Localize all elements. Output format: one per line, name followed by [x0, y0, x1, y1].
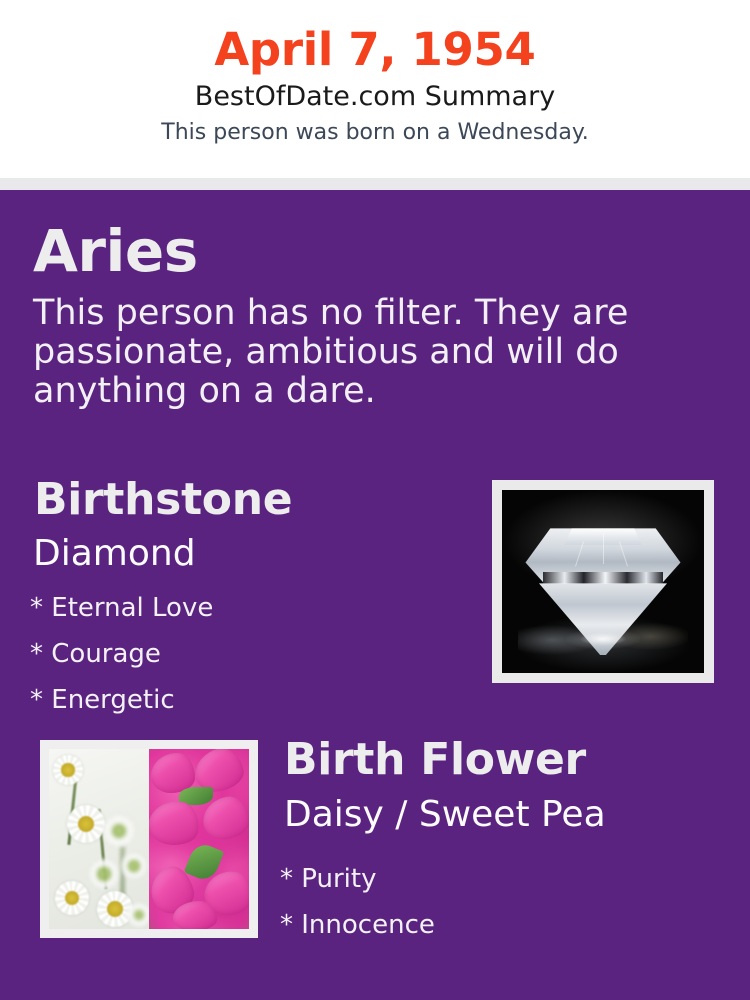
list-item: * Courage — [30, 632, 213, 678]
birth-flower-trait-list: * Purity * Innocence — [280, 857, 435, 949]
birth-flower-name: Daisy / Sweet Pea — [284, 797, 606, 833]
zodiac-description: This person has no filter. They are pass… — [33, 294, 653, 412]
daisy-flower-icon — [53, 755, 83, 785]
sweet-pea-photo-half — [149, 749, 249, 929]
diamond-facet-icon — [603, 534, 604, 564]
birth-flower-image-frame — [40, 740, 258, 938]
birthday-summary-card: April 7, 1954 BestOfDate.com Summary Thi… — [0, 0, 750, 1000]
card-header: April 7, 1954 BestOfDate.com Summary Thi… — [0, 0, 750, 178]
birth-day-note: This person was born on a Wednesday. — [0, 110, 750, 144]
header-divider — [0, 178, 750, 190]
list-item: * Eternal Love — [30, 586, 213, 632]
daisy-flower-icon — [67, 805, 105, 843]
diamond-photo — [502, 490, 704, 673]
birthstone-trait-list: * Eternal Love * Courage * Energetic — [30, 586, 213, 723]
birthstone-image-frame — [492, 480, 714, 683]
daisy-sweet-pea-photo — [49, 749, 249, 929]
list-item: * Innocence — [280, 903, 435, 949]
daisy-flower-icon — [103, 815, 135, 847]
zodiac-sign-name: Aries — [33, 222, 198, 280]
birthstone-name: Diamond — [33, 536, 196, 572]
daisy-photo-half — [49, 749, 149, 929]
daisy-flower-icon — [55, 881, 89, 915]
list-item: * Purity — [280, 857, 435, 903]
diamond-reflection — [518, 622, 688, 659]
birthstone-heading: Birthstone — [34, 478, 292, 522]
site-title: BestOfDate.com Summary — [0, 72, 750, 110]
daisy-flower-icon — [89, 859, 119, 889]
birth-flower-heading: Birth Flower — [284, 738, 586, 782]
sweet-pea-petal-icon — [149, 798, 202, 849]
daisy-flower-icon — [121, 853, 147, 879]
diamond-girdle-icon — [543, 572, 663, 584]
list-item: * Energetic — [30, 678, 213, 724]
daisy-flower-icon — [127, 903, 149, 927]
page-title-date: April 7, 1954 — [0, 0, 750, 72]
